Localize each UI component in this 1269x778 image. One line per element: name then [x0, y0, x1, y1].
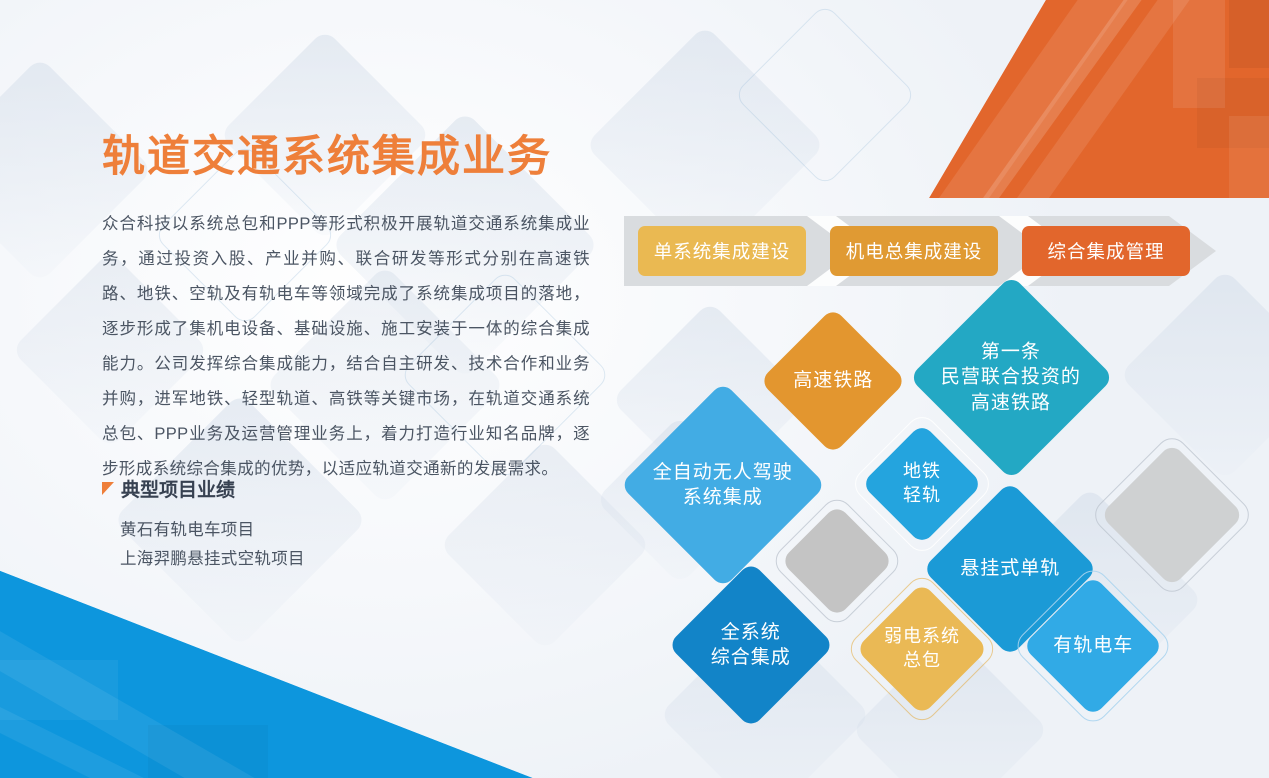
process-step-2[interactable]: 机电总集成建设: [830, 226, 998, 276]
line-1: 弱电系统: [884, 626, 960, 646]
section-heading-label: 典型项目业绩: [121, 475, 235, 502]
corner-decoration-top-right: [929, 0, 1269, 198]
process-step-1-label: 单系统集成建设: [654, 238, 791, 264]
diamond-suspended-monorail-label: 悬挂式单轨: [960, 556, 1060, 581]
line-1: 全自动无人驾驶: [653, 462, 793, 483]
placeholder-diamond-right: [1100, 443, 1244, 587]
list-item: 上海羿鹏悬挂式空轨项目: [120, 545, 305, 574]
process-step-3-label: 综合集成管理: [1047, 238, 1164, 264]
line-2: 系统集成: [683, 487, 763, 508]
watermark-diamond: [1119, 269, 1269, 481]
diamond-fully-automatic-driverless-system-integration-label: 全自动无人驾驶 系统集成: [653, 460, 793, 511]
diamond-weak-current-system-general-contracting-label: 弱电系统 总包: [884, 625, 960, 673]
list-item: 黄石有轨电车项目: [120, 516, 305, 545]
line-2: 民营联合投资的: [941, 367, 1081, 388]
line-3: 高速铁路: [971, 392, 1051, 413]
line-1: 全系统: [721, 622, 781, 643]
process-step-3[interactable]: 综合集成管理: [1022, 226, 1190, 276]
intro-paragraph: 众合科技以系统总包和PPP等形式积极开展轨道交通系统集成业务，通过投资入股、产业…: [102, 207, 590, 487]
watermark-diamond-outline: [733, 3, 917, 187]
slide-canvas: 轨道交通系统集成业务 众合科技以系统总包和PPP等形式积极开展轨道交通系统集成业…: [0, 0, 1269, 778]
diamond-high-speed-rail[interactable]: 高速铁路: [759, 307, 906, 454]
project-list: 黄石有轨电车项目 上海羿鹏悬挂式空轨项目: [120, 516, 305, 574]
diamond-metro-light-rail-label: 地铁 轻轨: [903, 460, 941, 508]
line-2: 轻轨: [903, 485, 941, 505]
process-step-1[interactable]: 单系统集成建设: [638, 226, 806, 276]
line-1: 地铁: [903, 461, 941, 481]
diamond-full-system-comprehensive-integration-label: 全系统 综合集成: [711, 620, 791, 671]
process-band: 单系统集成建设 机电总集成建设 综合集成管理: [624, 216, 1216, 286]
diamond-tram-label: 有轨电车: [1053, 633, 1133, 658]
process-step-2-label: 机电总集成建设: [846, 238, 983, 264]
flag-triangle-icon: [102, 482, 114, 495]
placeholder-diamond-center: [780, 504, 893, 617]
line-2: 综合集成: [711, 647, 791, 668]
section-heading: 典型项目业绩: [102, 475, 235, 502]
page-title: 轨道交通系统集成业务: [102, 122, 552, 184]
diamond-high-speed-rail-label: 高速铁路: [793, 368, 873, 393]
line-2: 总包: [903, 650, 941, 670]
line-1: 第一条: [981, 342, 1041, 363]
diamond-first-private-investment-hsr-label: 第一条 民营联合投资的 高速铁路: [941, 340, 1081, 416]
